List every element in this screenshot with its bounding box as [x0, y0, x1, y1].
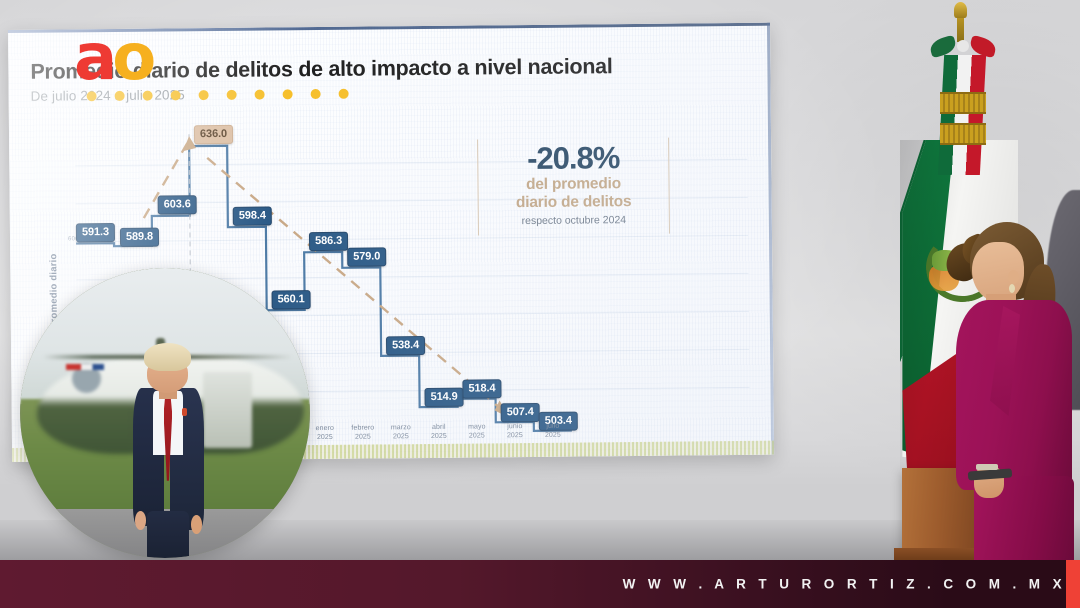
decor-dot	[255, 90, 265, 100]
flag-ribbon	[938, 55, 986, 175]
decor-dot	[199, 90, 209, 100]
logo-letter-a: a	[74, 21, 112, 95]
value-label: 514.9	[424, 388, 463, 407]
value-label: 603.6	[158, 195, 197, 214]
screenshot-root: Promedio diario de delitos de alto impac…	[0, 0, 1080, 608]
flagpole-finial	[954, 2, 967, 18]
person-lapel-pin	[182, 408, 187, 417]
callout-box: -20.8% del promedio diario de delitos re…	[477, 138, 670, 236]
decor-dot	[311, 89, 321, 99]
presenter	[960, 218, 1080, 568]
callout-percent: -20.8%	[490, 142, 656, 176]
value-label: 586.3	[309, 232, 348, 251]
decor-dot	[227, 90, 237, 100]
person-hand-right	[191, 515, 202, 534]
person-legs	[147, 511, 189, 558]
value-label: 507.4	[501, 403, 540, 422]
watermark-text: W W W . A R T U R O R T I Z . C O M . M …	[623, 577, 1066, 592]
value-label: 538.4	[386, 336, 425, 355]
inset-photo	[20, 268, 310, 558]
watermark-accent-block	[1066, 560, 1080, 608]
flag-bow-knot	[957, 40, 969, 52]
decor-dot	[171, 90, 181, 100]
person-hair	[144, 343, 191, 371]
value-label: 589.8	[120, 228, 159, 247]
value-label-peak: 636.0	[194, 125, 233, 144]
ao-logo: ao	[74, 26, 151, 90]
callout-line-3: respecto octubre 2024	[491, 214, 657, 228]
callout-line-2: diario de delitos	[491, 193, 657, 213]
value-label: 579.0	[347, 247, 386, 266]
helicopter-flag-marking	[66, 364, 104, 370]
person-hand-left	[135, 511, 146, 530]
decor-dot	[283, 89, 293, 99]
flag-tassel-upper	[940, 92, 986, 114]
presenter-earring	[1009, 284, 1015, 293]
photo-person	[124, 343, 211, 558]
logo-letter-o: o	[112, 21, 151, 95]
value-label: 591.3	[76, 223, 115, 242]
value-label: 598.4	[233, 206, 272, 225]
value-label: 518.4	[462, 379, 501, 398]
watermark-bar: W W W . A R T U R O R T I Z . C O M . M …	[0, 560, 1080, 608]
decor-dot	[339, 89, 349, 99]
flag-tassel-lower	[940, 123, 986, 145]
presenter-watch	[976, 464, 998, 470]
presenter-ear	[1008, 270, 1019, 284]
circular-photo-inset	[20, 268, 310, 558]
callout-line-1: del promedio	[490, 174, 656, 194]
